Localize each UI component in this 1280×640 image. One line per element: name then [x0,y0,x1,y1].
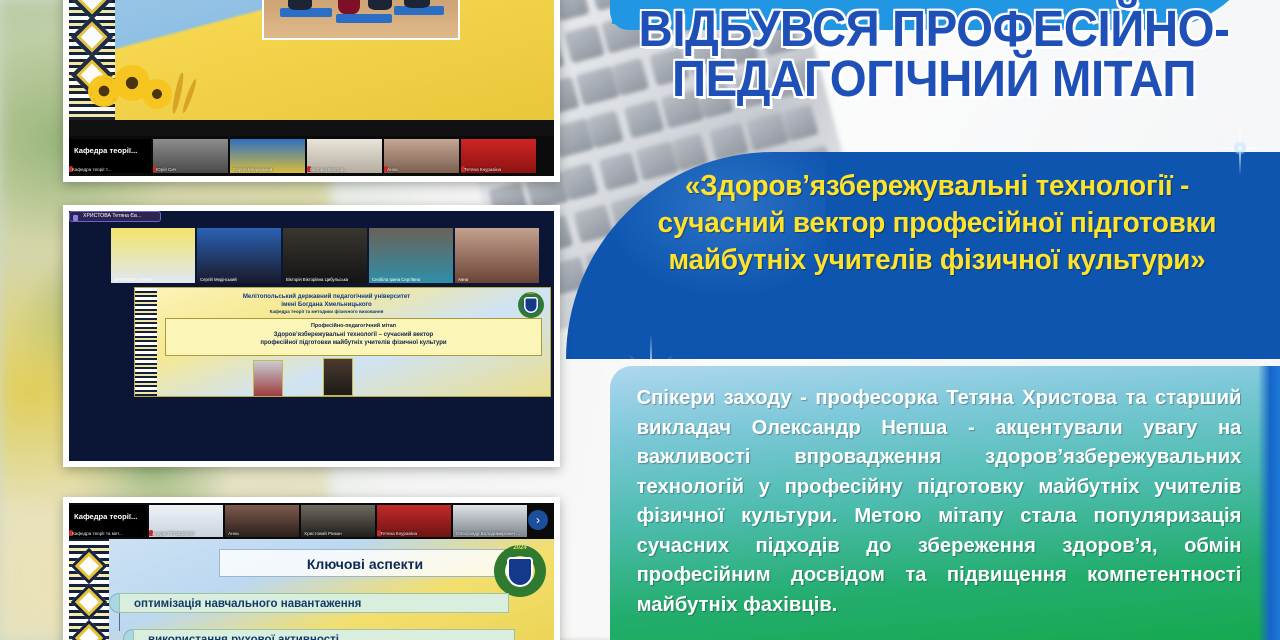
bullet-item: оптимізація навчального навантаження [119,593,509,613]
slide-1: збереження та зміцнення здоров’я всіх уч… [69,0,554,120]
participant-name: ХРИСТОВА Тетяна [114,277,152,282]
participant-tile[interactable]: ХРИСТОВА Тетяна [111,228,195,283]
participant-tile[interactable]: Анна [225,505,299,537]
user-icon [73,215,78,221]
participant-name: Христовий Роман [304,531,342,536]
participant-name: Анна [228,531,239,536]
department-name: Кафедра теорії та методики фізичного вих… [163,309,490,315]
participant-name: Сергій Медінський [200,277,237,282]
description-panel-edge [1258,366,1280,640]
participant-tile-title: Кафедра теорії... [74,512,137,521]
next-page-icon[interactable]: › [528,510,548,530]
page-title: ВІДБУВСЯ ПРОФЕСІЙНО- ПЕДАГОГІЧНИЙ МІТАП [623,4,1244,104]
crest-shield [524,297,538,313]
ornament-diamond [71,548,108,585]
participant-tile[interactable]: Олександр Володимирович ... [453,505,527,537]
bullet-connector [119,613,120,631]
participant-tile[interactable]: Юрій Сич [153,139,228,173]
person-figure [404,0,430,8]
keyboard-key [623,99,664,139]
slide-2: Мелітопольський державний педагогічний у… [134,287,551,397]
participant-name: Снобіла Ірина Сергіївна [372,277,420,282]
person-figure [288,0,312,10]
description-panel: Спікери заходу - професорка Тетяна Христ… [610,366,1280,640]
ornament-strip [69,539,109,640]
sunflower-icon [145,82,169,106]
sunflower-icon [117,68,147,98]
screenshot-card-2[interactable]: ХРИСТОВА Тетяна Єв... ХРИСТОВА Тетяна Се… [63,205,560,467]
slide-3: Ключові аспекти 2024 оптимізація навчаль… [69,539,554,640]
screenshot-3-content: Кафедра теорії... Кафедра теорії та мет.… [69,503,554,640]
description-text: Спікери заходу - професорка Тетяна Христ… [637,383,1242,619]
participant-tile[interactable]: Андрій ПРОЩЕНКО [149,505,223,537]
participant-tile[interactable]: Тетяна Кнуравіна [461,139,536,173]
event-topic: Здоров’язбережувальні технології – сучас… [166,332,541,348]
ornament-diamond [71,620,108,640]
participant-tile-title: Кафедра теорії... [74,146,137,155]
speaker-portrait [253,360,283,397]
participant-name: Олександр Володимирович ... [456,531,520,536]
sunflowers-decoration [87,56,217,126]
ornament-diamond [71,584,108,621]
description-paragraph: Спікери заходу - професорка Тетяна Христ… [637,383,1242,619]
participant-tile[interactable]: Снобіла Ірина Сергіївна [369,228,453,283]
participant-tile[interactable]: Христовий Роман [301,505,375,537]
quote-banner-text: «Здоров’язбережувальні технології - суча… [619,168,1255,278]
sunflower-icon [91,78,117,104]
university-crest: 2024 [518,292,544,318]
person-figure [338,0,360,14]
crest-shield [507,557,533,587]
active-speaker-badge: ХРИСТОВА Тетяна Єв... [69,211,161,222]
participant-name: Кафедра теорії та мет... [72,531,123,536]
participant-tray-3: Кафедра теорії... Кафедра теорії та мет.… [69,503,554,539]
participant-tile[interactable]: Вікторія Вікторівна Цибульська [283,228,367,283]
participant-tile[interactable]: Анна [384,139,459,173]
participant-name: Кафедра теорії т... [72,167,111,172]
participant-tile[interactable]: Кафедра теорії... Кафедра теорії т... [69,139,151,173]
participant-tile[interactable]: Вікторія Євстор... [307,139,382,173]
participant-name: Анна [458,277,468,282]
university-crest: 2024 [494,545,546,597]
gym-photo [262,0,460,40]
participant-name: Сергій Медінський [233,167,272,172]
participant-name: Вікторія Вікторівна Цибульська [286,277,348,282]
slide-3-title: Ключові аспекти [219,549,511,577]
screenshot-1-content: збереження та зміцнення здоров’я всіх уч… [69,0,554,176]
slide-2-topic-box: Професійно-педагогічний мітап Здоров’язб… [165,318,542,356]
screenshot-card-3[interactable]: Кафедра теорії... Кафедра теорії та мет.… [63,497,560,640]
participant-tile[interactable]: Анна [455,228,539,283]
slide-2-header: Мелітопольський державний педагогічний у… [163,293,490,316]
screenshot-2-content: ХРИСТОВА Тетяна Єв... ХРИСТОВА Тетяна Се… [69,211,554,461]
screenshot-card-1[interactable]: збереження та зміцнення здоров’я всіх уч… [63,0,560,182]
participant-name: Тетяна Кнуравіна [464,167,501,172]
ornament-strip [135,288,157,396]
crest-year: 2024 [494,545,546,551]
quote-banner: «Здоров’язбережувальні технології - суча… [566,152,1280,359]
crest-year: 2024 [518,291,544,295]
event-type: Професійно-педагогічний мітап [166,323,541,329]
bullet-item: використання рухової активності [133,629,515,640]
participant-name: Анна [387,167,398,172]
speaker-portrait [323,358,353,396]
participant-tile[interactable]: Кафедра теорії... Кафедра теорії та мет.… [69,505,147,537]
active-speaker-name: ХРИСТОВА Тетяна Єв... [83,213,141,219]
participant-tile[interactable]: Сергій Медінський [230,139,305,173]
participant-name: Вікторія Євстор... [310,167,347,172]
participant-tile[interactable]: Сергій Медінський [197,228,281,283]
exercise-mat [336,14,392,23]
ornament-diamond [71,16,113,58]
wheat-icon [181,78,198,114]
participant-name: Юрій Сич [156,167,176,172]
person-figure [368,0,392,10]
keyboard-key [564,24,605,64]
participant-tray-1: Кафедра теорії... Кафедра теорії т... Юр… [69,136,554,176]
participant-name: Андрій ПРОЩЕНКО [152,531,194,536]
participant-name: Тетяна Кнуравіна [380,531,417,536]
participant-tile[interactable]: Тетяна Кнуравіна [377,505,451,537]
university-line-1: Мелітопольський державний педагогічний у… [163,293,490,301]
